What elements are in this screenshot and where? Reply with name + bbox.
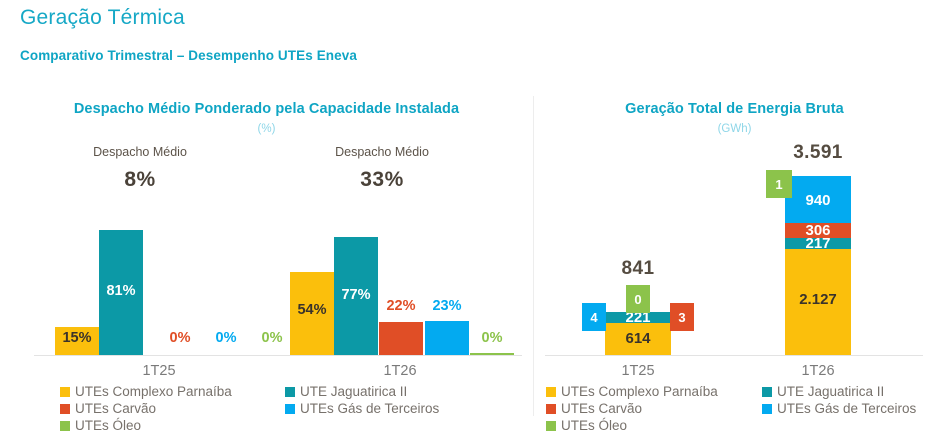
bar-label-1t26-parnaiba: 54%: [282, 302, 342, 318]
legend-label-parnaiba-right: UTEs Complexo Parnaíba: [561, 384, 718, 399]
stack-total-1t26: 3.591: [748, 142, 888, 164]
legend-swatch-jaguatirica: [285, 387, 295, 397]
bar-label-1t26-oleo: 0%: [462, 330, 522, 346]
legend-swatch-gas-right: [762, 404, 772, 414]
chart-panel-despacho: Despacho Médio Ponderado pela Capacidade…: [0, 0, 533, 435]
callout-1t25-gas[interactable]: 4: [582, 303, 606, 331]
legend-label-parnaiba: UTEs Complexo Parnaíba: [75, 384, 232, 399]
legend-swatch-gas: [285, 404, 295, 414]
right-chart-unit: (GWh): [533, 123, 936, 135]
left-axis-line: [34, 355, 522, 356]
legend-item-oleo-right[interactable]: UTEs Óleo: [546, 417, 746, 434]
callout-1t25-oleo[interactable]: 0: [626, 285, 650, 313]
legend-label-jaguatirica: UTE Jaguatirica II: [300, 384, 407, 399]
left-chart-title: Despacho Médio Ponderado pela Capacidade…: [0, 101, 533, 117]
group-average-1t26: 33%: [297, 168, 467, 192]
legend-label-carvao: UTEs Carvão: [75, 401, 156, 416]
legend-item-parnaiba[interactable]: UTEs Complexo Parnaíba: [60, 383, 280, 400]
legend-label-gas: UTEs Gás de Terceiros: [300, 401, 439, 416]
callout-label-1t26-oleo: 1: [775, 177, 782, 192]
legend-item-oleo[interactable]: UTEs Óleo: [60, 417, 280, 434]
callout-label-1t25-carvao: 3: [678, 310, 685, 325]
callout-label-1t25-oleo: 0: [634, 292, 641, 307]
bar-label-1t25-parnaiba: 15%: [47, 330, 107, 346]
group-caption-1t25: Despacho Médio: [55, 145, 225, 159]
bar-1t26-carvao[interactable]: [379, 322, 423, 355]
legend-swatch-parnaiba: [60, 387, 70, 397]
bar-label-1t26-gas: 23%: [417, 298, 477, 314]
legend-swatch-oleo: [60, 421, 70, 431]
legend-item-jaguatirica[interactable]: UTE Jaguatirica II: [285, 383, 505, 400]
group-average-1t25: 8%: [55, 168, 225, 192]
left-chart-unit: (%): [0, 123, 533, 135]
stack-label-1t26-parnaiba: 2.127: [758, 291, 878, 308]
chart-panel-geracao: Geração Total de Energia Bruta (GWh) 841…: [533, 0, 936, 435]
callout-label-1t25-gas: 4: [590, 310, 597, 325]
legend-label-carvao-right: UTEs Carvão: [561, 401, 642, 416]
legend-label-gas-right: UTEs Gás de Terceiros: [777, 401, 916, 416]
legend-item-gas[interactable]: UTEs Gás de Terceiros: [285, 400, 505, 417]
right-axis-line: [545, 355, 923, 356]
legend-item-parnaiba-right[interactable]: UTEs Complexo Parnaíba: [546, 383, 746, 400]
axis-label-right-1t25: 1T25: [578, 363, 698, 379]
legend-item-gas-right[interactable]: UTEs Gás de Terceiros: [762, 400, 936, 417]
legend-item-carvao-right[interactable]: UTEs Carvão: [546, 400, 746, 417]
axis-label-left-1t25: 1T25: [99, 363, 219, 379]
axis-label-right-1t26: 1T26: [758, 363, 878, 379]
legend-label-oleo: UTEs Óleo: [75, 418, 141, 433]
slide-root: Geração Térmica Comparativo Trimestral –…: [0, 0, 936, 435]
legend-item-carvao[interactable]: UTEs Carvão: [60, 400, 280, 417]
stack-total-1t25: 841: [568, 258, 708, 280]
legend-item-jaguatirica-right[interactable]: UTE Jaguatirica II: [762, 383, 936, 400]
legend-swatch-oleo-right: [546, 421, 556, 431]
callout-1t25-carvao[interactable]: 3: [670, 303, 694, 331]
stack-label-1t26-carvao: 306: [758, 222, 878, 239]
legend-swatch-parnaiba-right: [546, 387, 556, 397]
right-chart-title: Geração Total de Energia Bruta: [533, 101, 936, 117]
legend-swatch-carvao: [60, 404, 70, 414]
callout-1t26-oleo[interactable]: 1: [766, 170, 792, 198]
legend-swatch-jaguatirica-right: [762, 387, 772, 397]
stack-label-1t25-parnaiba: 614: [578, 330, 698, 347]
legend-swatch-carvao-right: [546, 404, 556, 414]
group-caption-1t26: Despacho Médio: [297, 145, 467, 159]
legend-label-oleo-right: UTEs Óleo: [561, 418, 627, 433]
legend-label-jaguatirica-right: UTE Jaguatirica II: [777, 384, 884, 399]
axis-label-left-1t26: 1T26: [340, 363, 460, 379]
bar-label-1t25-jaguatirica: 81%: [91, 283, 151, 299]
